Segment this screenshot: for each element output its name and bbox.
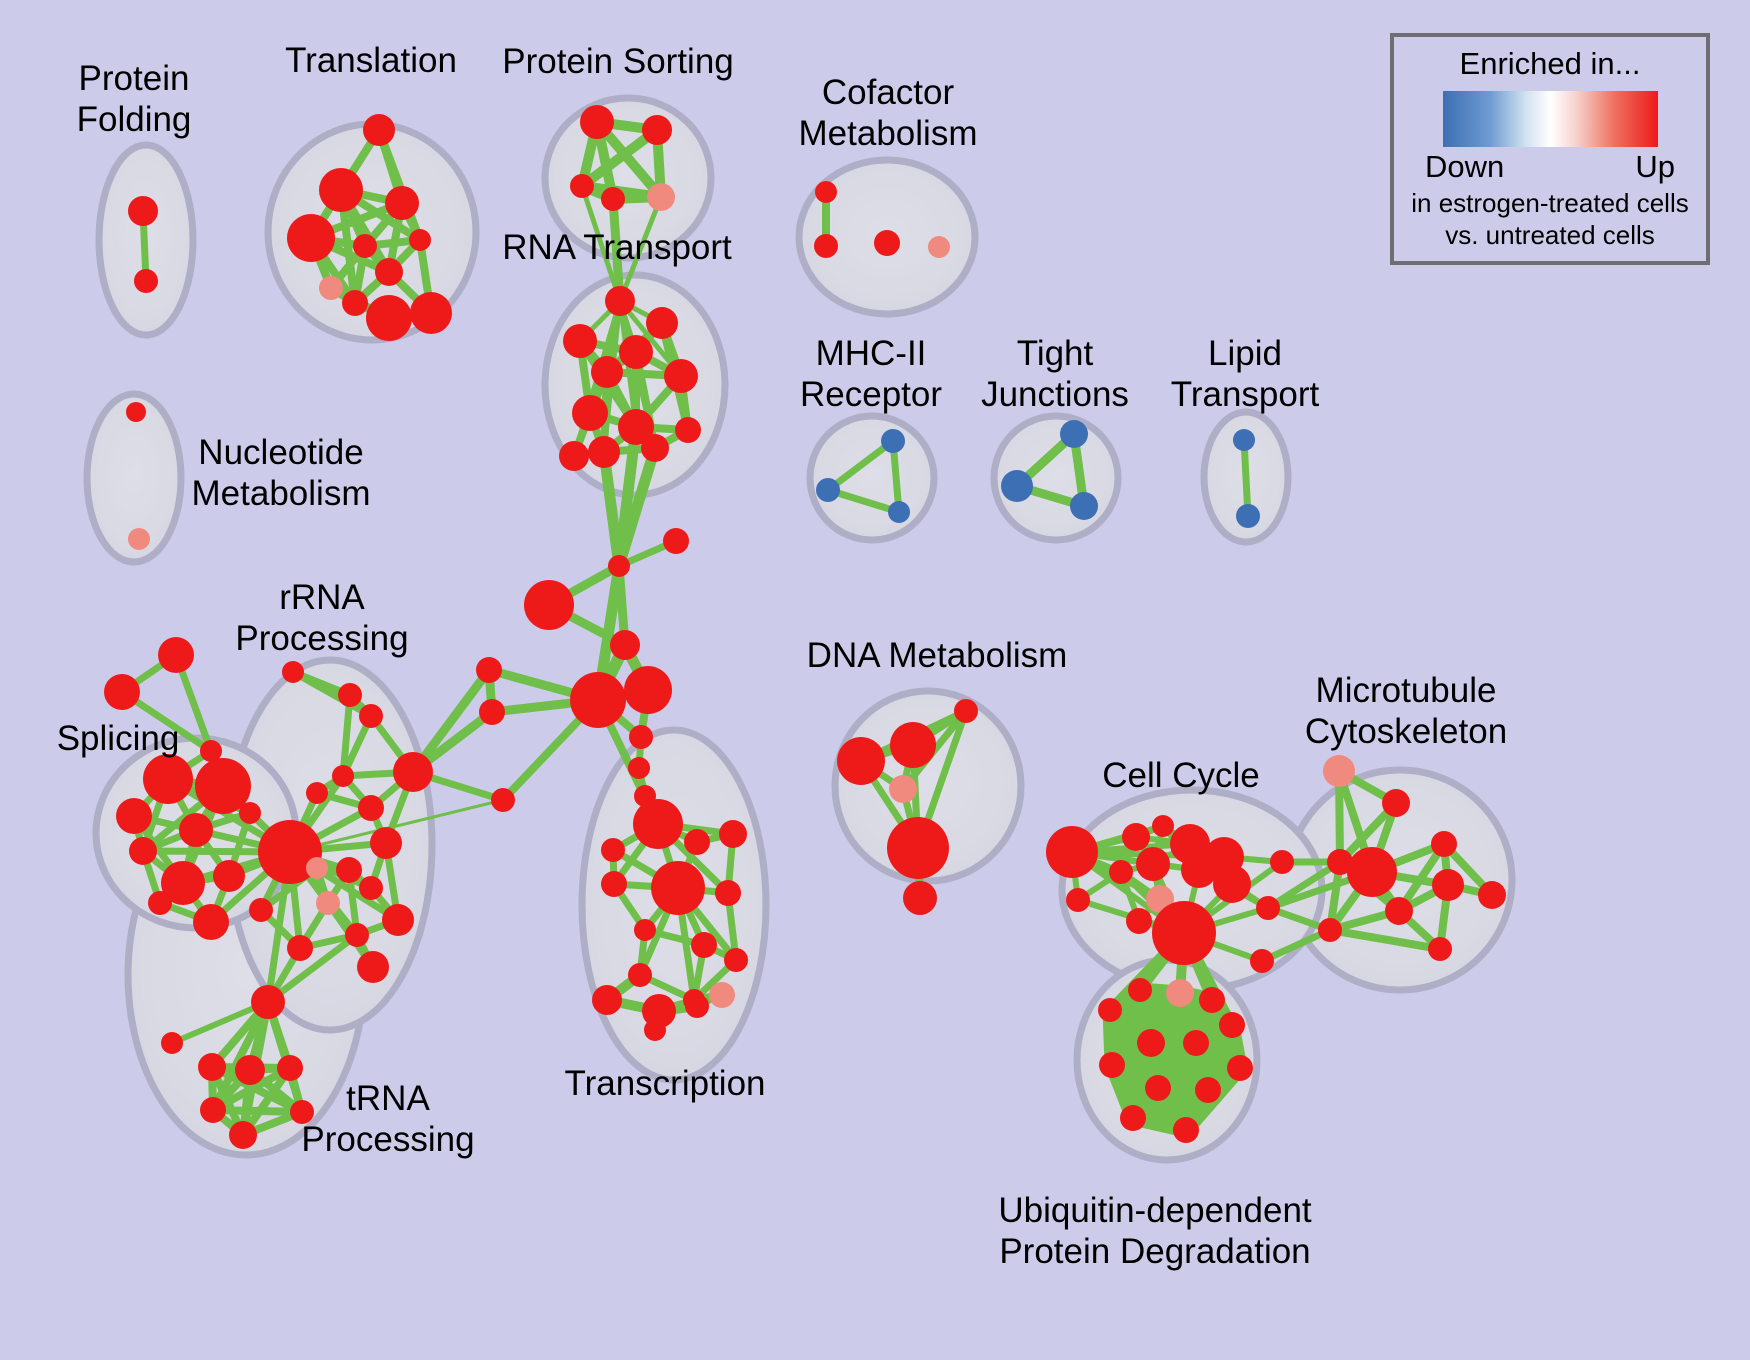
legend-color-gradient-bar (1443, 91, 1658, 147)
legend-caption: in estrogen-treated cells vs. untreated … (1394, 187, 1706, 251)
legend-up-label: Up (1635, 149, 1675, 185)
legend-endpoint-labels: Down Up (1425, 149, 1675, 185)
legend-panel: Enriched in... Down Up in estrogen-treat… (1390, 33, 1710, 265)
legend-down-label: Down (1425, 149, 1504, 185)
enrichment-network-figure: Protein Folding Translation Protein Sort… (0, 0, 1750, 1360)
legend-title: Enriched in... (1394, 46, 1706, 82)
